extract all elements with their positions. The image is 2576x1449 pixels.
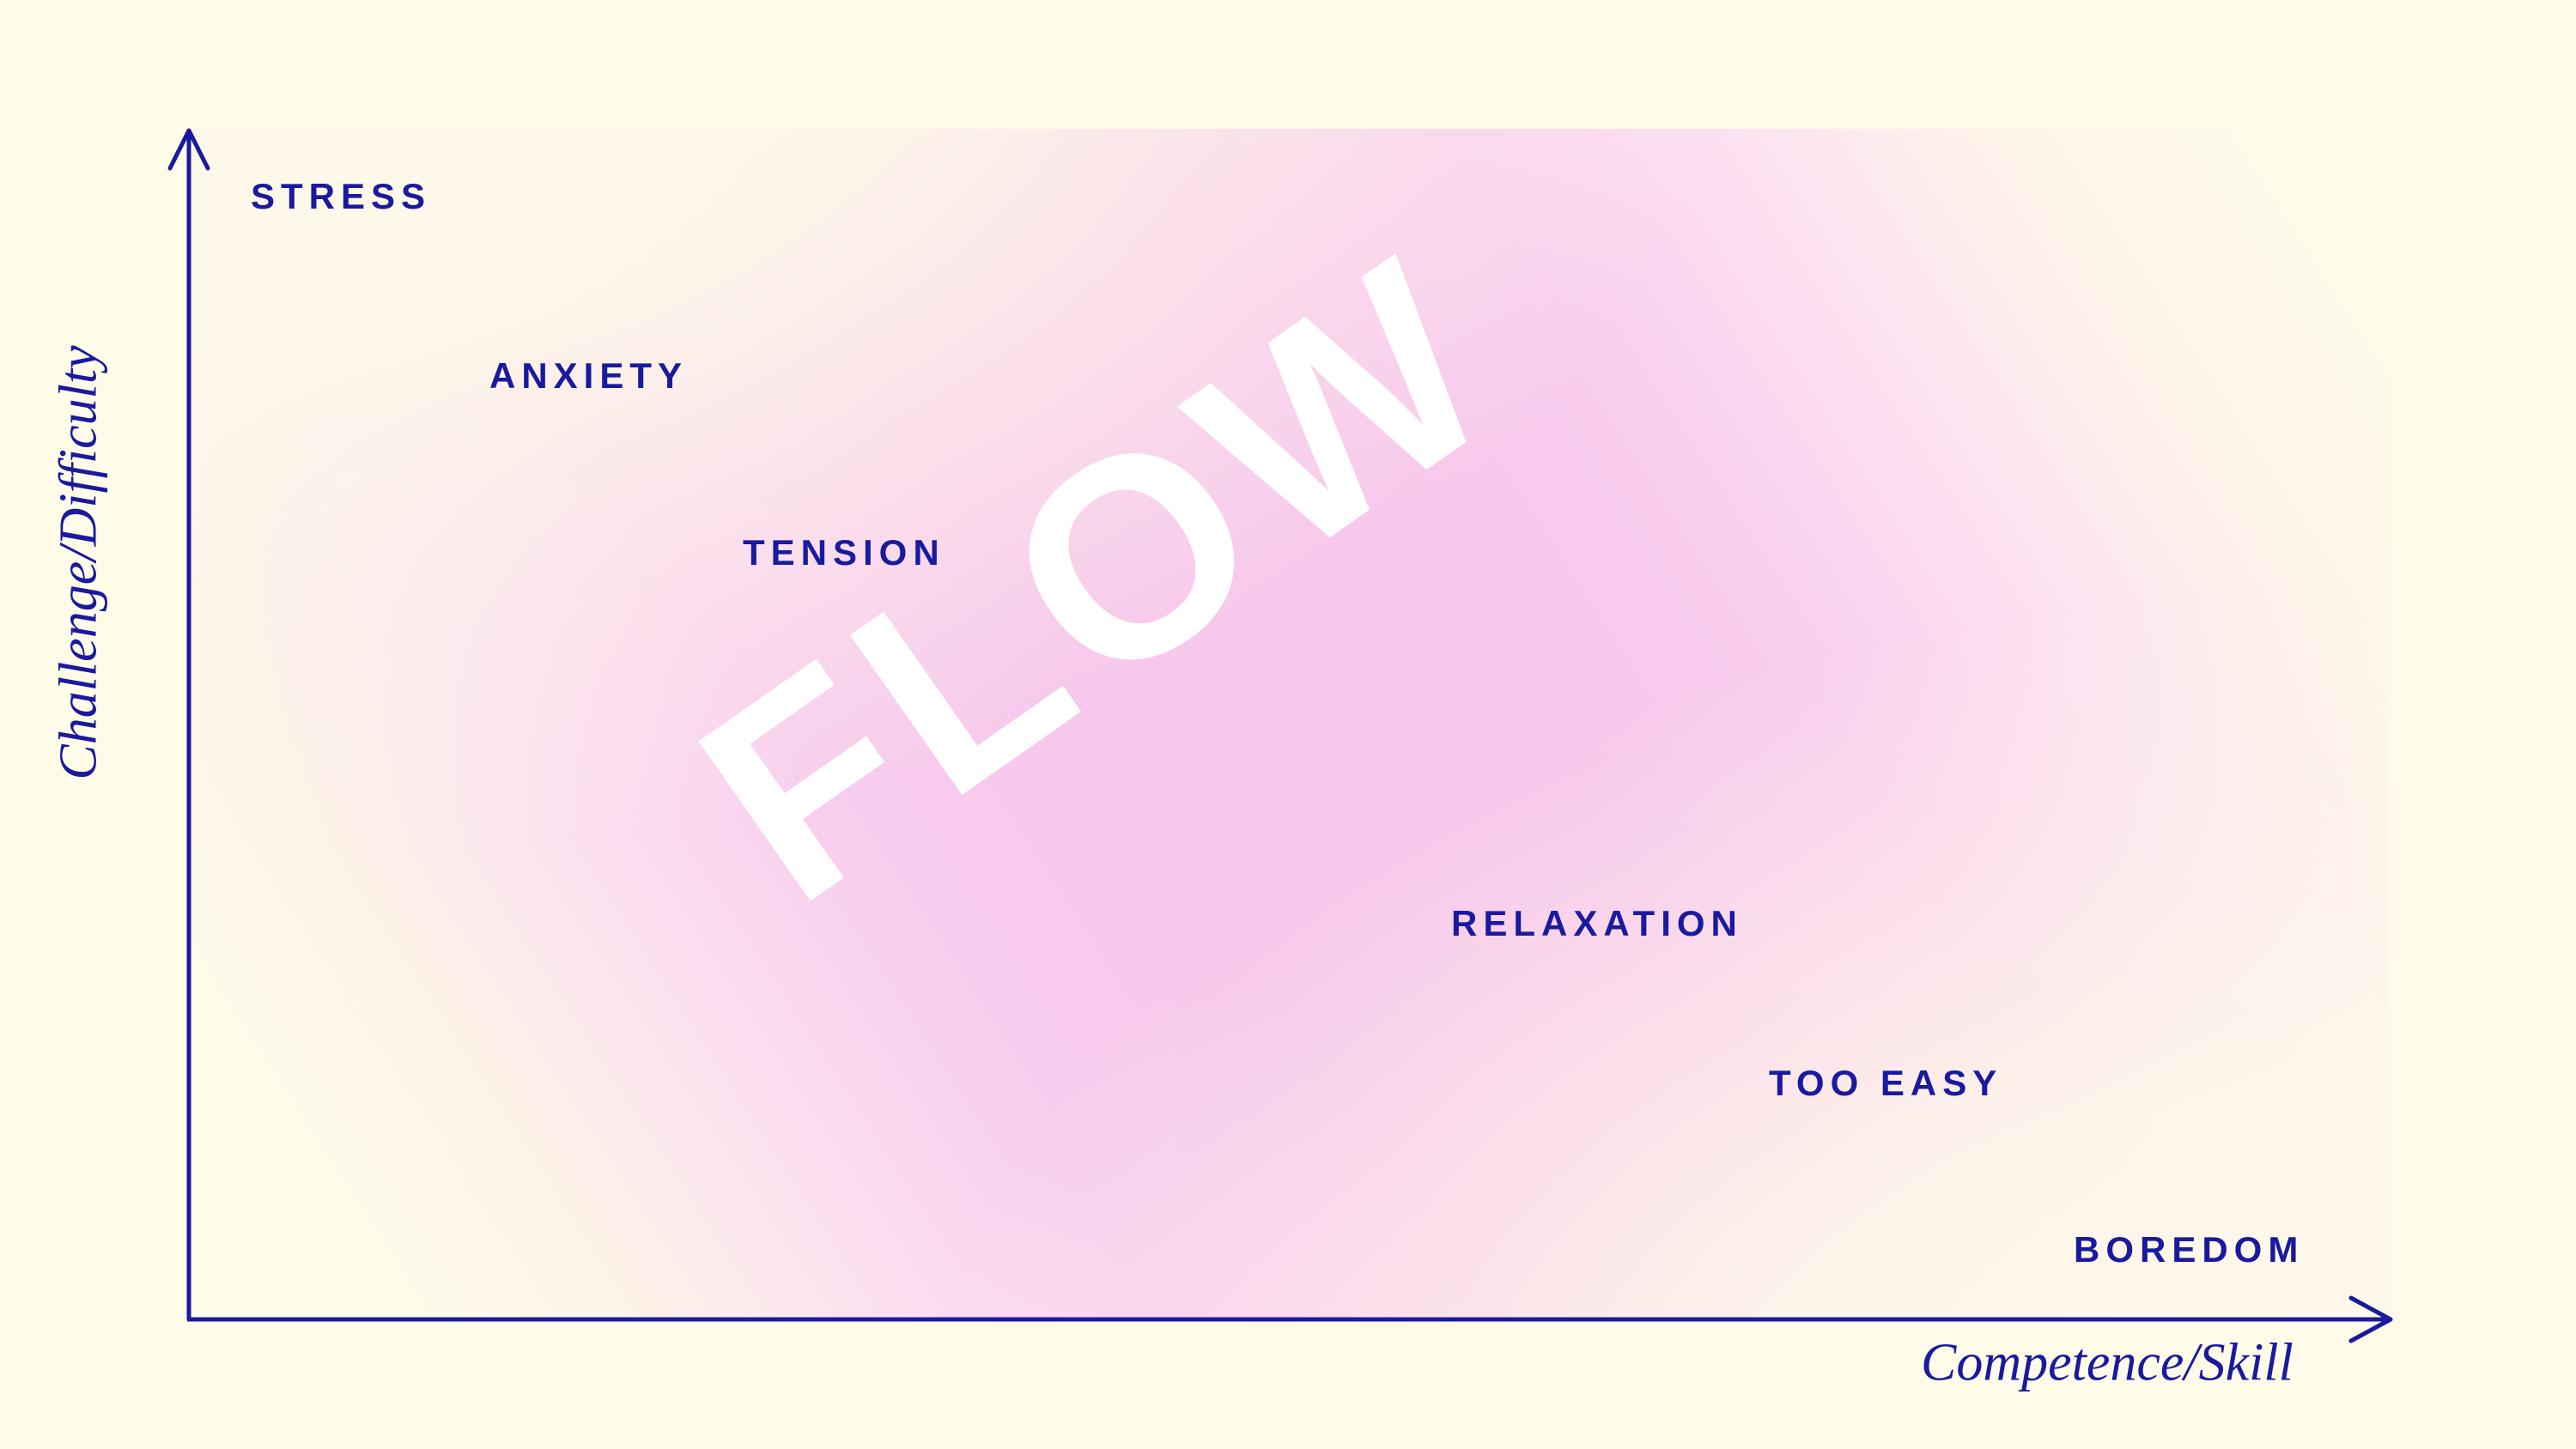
zone-label-anxiety: ANXIETY [489, 355, 688, 397]
x-axis-title: Competence/Skill [1921, 1333, 2293, 1394]
zone-label-stress: STRESS [251, 176, 431, 217]
zone-label-tension: TENSION [743, 532, 945, 573]
flow-diagram-canvas: FLOW Challenge/Difficulty Competence/Ski… [0, 0, 2576, 1449]
zone-label-too-easy: TOO EASY [1769, 1063, 2002, 1104]
y-axis-title: Challenge/Difficulty [49, 340, 110, 786]
zone-label-boredom: BOREDOM [2074, 1229, 2304, 1270]
zone-label-relaxation: RELAXATION [1451, 903, 1743, 944]
